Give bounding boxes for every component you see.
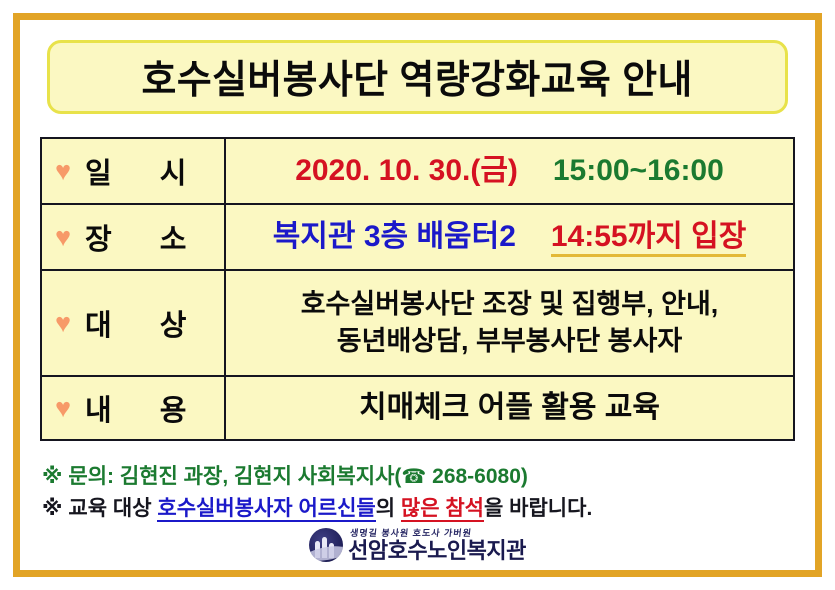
heart-icon: ♥	[55, 395, 71, 422]
row-value-content: 치매체크 어플 활용 교육	[225, 376, 794, 440]
table-row: ♥ 대 상 호수실버봉사단 조장 및 집행부, 안내, 동년배상담, 부부봉사단…	[41, 270, 794, 376]
note-bullet-icon: ※	[42, 465, 62, 488]
row-label-content: ♥ 내 용	[41, 376, 225, 440]
poster-frame: 호수실버봉사단 역량강화교육 안내 ♥ 일 시 2020. 10. 30.(금)…	[13, 13, 822, 577]
logo-organization-name: 선암호수노인복지관	[348, 540, 526, 562]
row-value-datetime: 2020. 10. 30.(금) 15:00~16:00	[225, 138, 794, 204]
event-place: 복지관 3층 배움터2	[273, 220, 516, 253]
event-date: 2020. 10. 30.(금)	[295, 154, 518, 187]
audience-line-1: 호수실버봉사단 조장 및 집행부, 안내,	[226, 286, 793, 323]
table-row: ♥ 내 용 치매체크 어플 활용 교육	[41, 376, 794, 440]
invite-suffix: 을 바랍니다.	[484, 497, 592, 520]
info-table: ♥ 일 시 2020. 10. 30.(금) 15:00~16:00 ♥	[40, 137, 795, 441]
row-label-audience: ♥ 대 상	[41, 270, 225, 376]
heart-icon: ♥	[55, 158, 71, 185]
contact-text: 문의: 김현진 과장, 김현지 사회복지사(	[68, 465, 401, 488]
invite-mid: 의	[376, 497, 401, 520]
row-value-place: 복지관 3층 배움터2 14:55까지 입장	[225, 204, 794, 270]
heart-icon: ♥	[55, 310, 71, 337]
course-content: 치매체크 어플 활용 교육	[359, 391, 660, 424]
table-row: ♥ 장 소 복지관 3층 배움터2 14:55까지 입장	[41, 204, 794, 270]
label-text: 일 시	[85, 150, 210, 192]
label-text: 장 소	[85, 216, 210, 258]
welfare-center-emblem-icon	[309, 528, 343, 562]
row-label-place: ♥ 장 소	[41, 204, 225, 270]
poster-body: 호수실버봉사단 역량강화교육 안내 ♥ 일 시 2020. 10. 30.(금)…	[20, 20, 815, 570]
title-banner: 호수실버봉사단 역량강화교육 안내	[47, 40, 788, 114]
footer-notes: ※문의: 김현진 과장, 김현지 사회복지사(☎ 268-6080) ※교육 대…	[42, 461, 782, 525]
note-line-contact: ※문의: 김현진 과장, 김현지 사회복지사(☎ 268-6080)	[42, 461, 782, 493]
note-bullet-icon: ※	[42, 497, 62, 520]
page-title: 호수실버봉사단 역량강화교육 안내	[142, 49, 693, 105]
entry-deadline-note: 14:55까지 입장	[551, 220, 746, 257]
contact-phone: 268-6080)	[426, 465, 528, 488]
invite-target-highlight: 호수실버봉사자 어르신들	[157, 497, 375, 522]
event-time: 15:00~16:00	[553, 154, 724, 187]
table-row: ♥ 일 시 2020. 10. 30.(금) 15:00~16:00	[41, 138, 794, 204]
invite-prefix: 교육 대상	[68, 497, 157, 520]
label-text: 대 상	[85, 302, 210, 344]
label-text: 내 용	[85, 387, 210, 429]
row-label-datetime: ♥ 일 시	[41, 138, 225, 204]
invite-attendance-highlight: 많은 참석	[401, 497, 484, 522]
audience-line-2: 동년배상담, 부부봉사단 봉사자	[226, 323, 793, 360]
logo-text-group: 생명길 봉사원 호도사 가버원 선암호수노인복지관	[348, 529, 526, 562]
logo-tagline: 생명길 봉사원 호도사 가버원	[350, 529, 473, 538]
organization-logo: 생명길 봉사원 호도사 가버원 선암호수노인복지관	[20, 528, 815, 562]
row-value-audience: 호수실버봉사단 조장 및 집행부, 안내, 동년배상담, 부부봉사단 봉사자	[225, 270, 794, 376]
heart-icon: ♥	[55, 224, 71, 251]
telephone-icon: ☎	[401, 466, 426, 488]
note-line-invite: ※교육 대상 호수실버봉사자 어르신들의 많은 참석을 바랍니다.	[42, 493, 782, 525]
